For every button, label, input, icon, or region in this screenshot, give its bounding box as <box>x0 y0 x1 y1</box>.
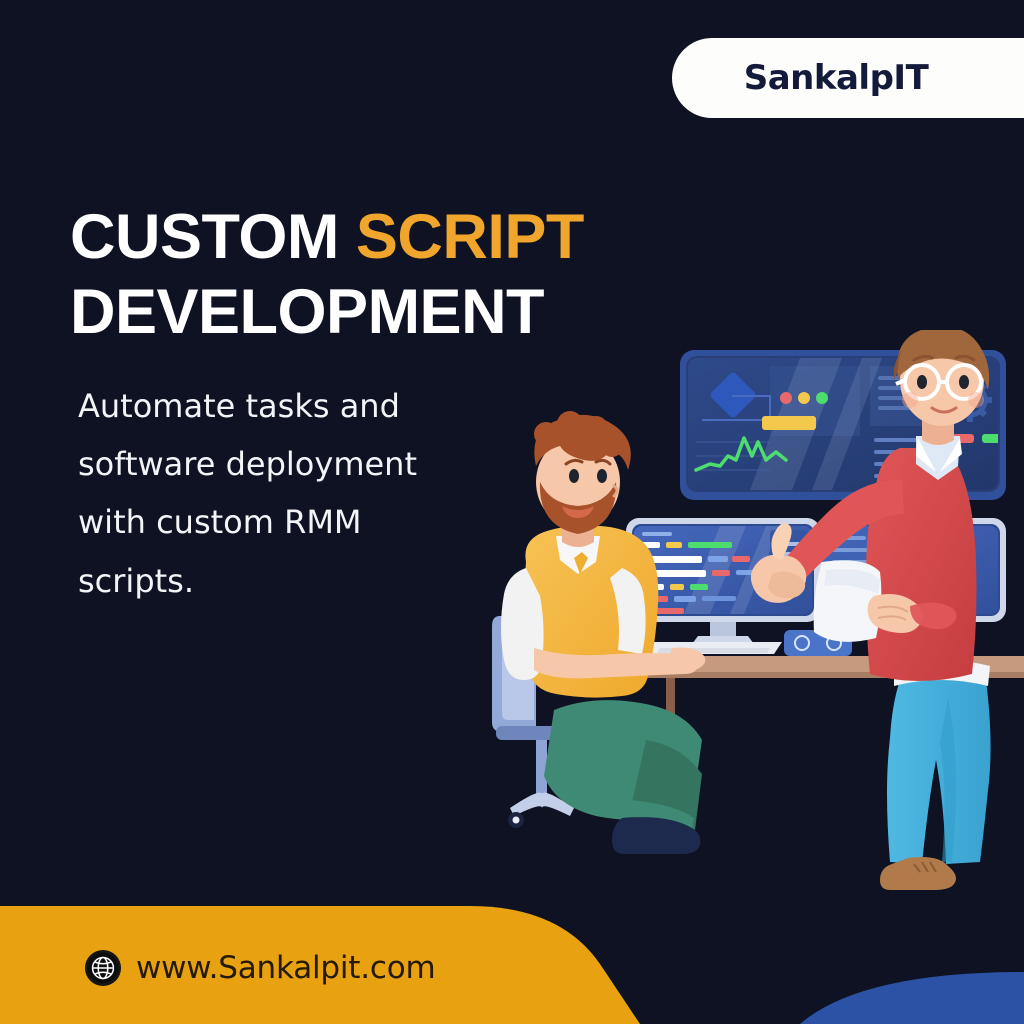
hero-illustration <box>470 330 1024 890</box>
globe-icon <box>84 949 122 987</box>
page-subtitle: Automate tasks and software deployment w… <box>78 377 478 610</box>
highlight-bar <box>762 416 816 430</box>
status-dot-green <box>816 392 828 404</box>
status-dot-yellow <box>798 392 810 404</box>
eye-left <box>917 375 927 389</box>
status-dot-red <box>780 392 792 404</box>
eye-left <box>569 469 579 483</box>
eye-right <box>597 469 607 483</box>
poster-canvas: SankalpIT CUSTOM SCRIPT DEVELOPMENT Auto… <box>0 0 1024 1024</box>
website-url: www.Sankalpit.com <box>136 950 436 986</box>
footer-website[interactable]: www.Sankalpit.com <box>84 949 436 987</box>
headline-word-script: SCRIPT <box>356 202 584 272</box>
headline-word-custom: CUSTOM <box>70 202 356 272</box>
brand-logo-label: SankalpIT <box>744 58 929 98</box>
eye-right <box>959 375 969 389</box>
page-title: CUSTOM SCRIPT DEVELOPMENT <box>70 200 690 350</box>
jeans <box>887 675 991 864</box>
brand-logo-pill[interactable]: SankalpIT <box>672 38 1024 118</box>
keyboard <box>646 642 782 654</box>
seated-developer <box>501 411 705 854</box>
